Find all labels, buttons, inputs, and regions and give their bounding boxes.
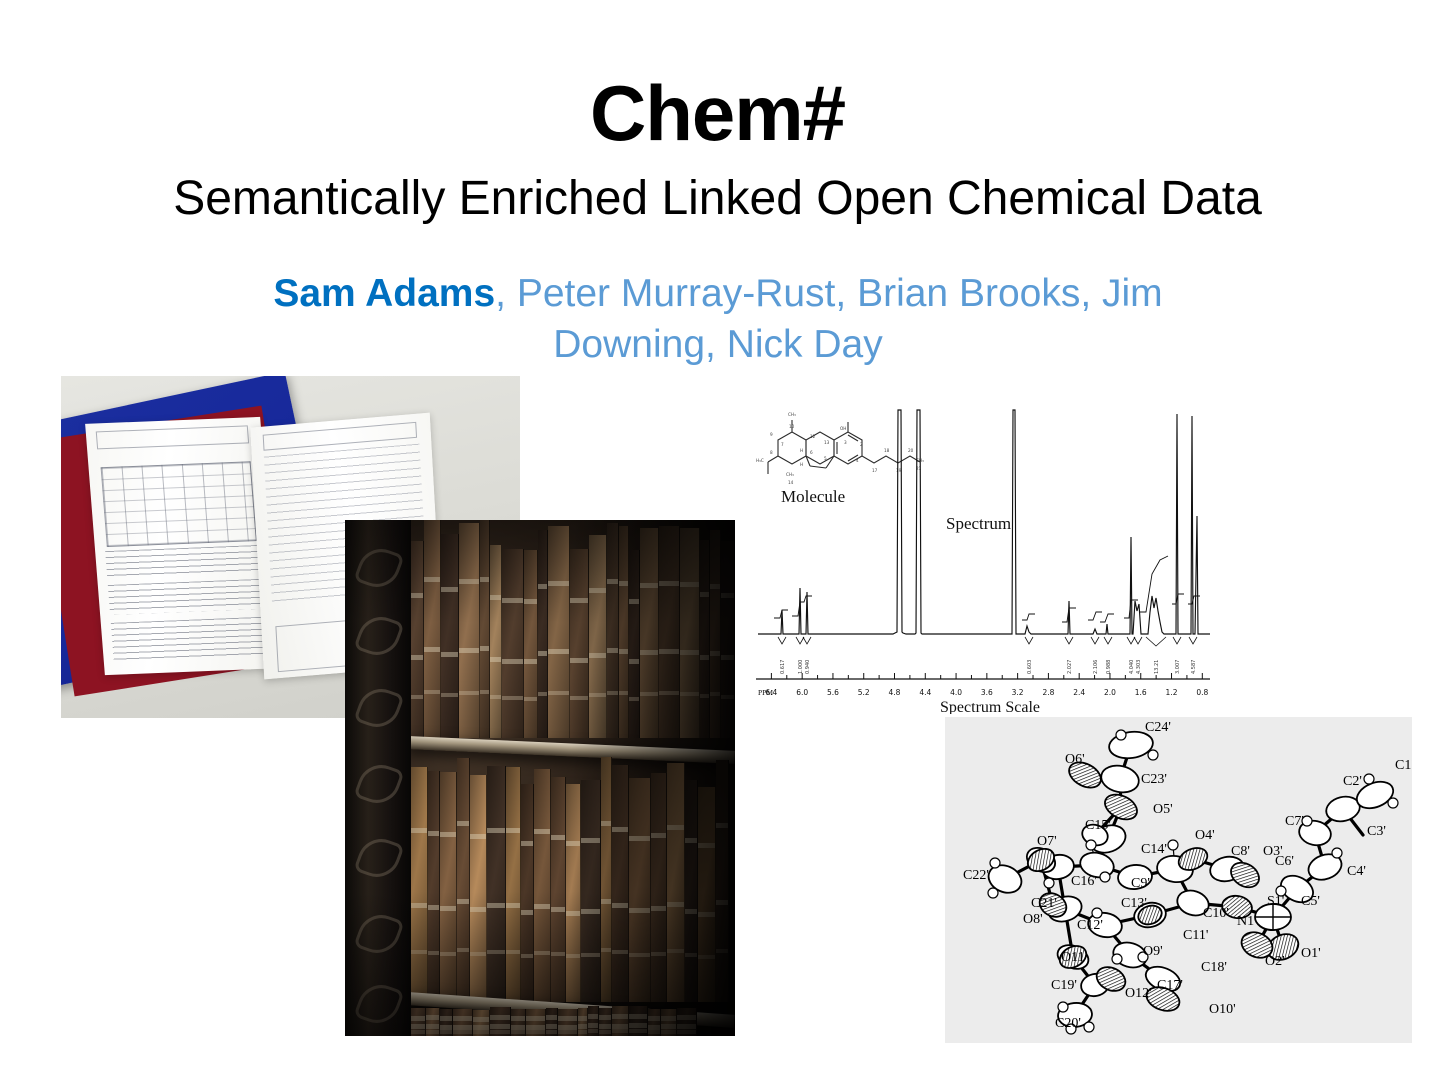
book-band [548, 691, 569, 695]
book-spine [619, 526, 629, 738]
svg-text:H₃C: H₃C [756, 458, 764, 463]
book-band [487, 950, 505, 954]
book-spine [511, 1009, 526, 1036]
atom-label-O8-prime: O8' [1023, 912, 1043, 927]
page-title: Chem# [0, 74, 1435, 152]
ppm-tick-0.8: 0.8 [1196, 688, 1208, 697]
svg-text:2: 2 [860, 442, 863, 447]
atom-label-C16-prime: C16' [1071, 874, 1097, 889]
svg-text:1.000: 1.000 [798, 660, 804, 674]
svg-text:0.603: 0.603 [1027, 660, 1033, 674]
book-spine [578, 1008, 588, 1036]
atom-label-O11-prime: O11' [1061, 950, 1087, 965]
svg-text:18: 18 [884, 448, 890, 453]
atom-label-C18-prime: C18' [1201, 960, 1227, 975]
author-list: Sam Adams, Peter Murray-Rust, Brian Broo… [218, 268, 1218, 371]
book-band [578, 1030, 587, 1034]
svg-text:0.988: 0.988 [1106, 660, 1112, 674]
book-spine [629, 1006, 648, 1036]
book-band [490, 1030, 510, 1034]
book-band [459, 691, 479, 695]
atom-label-C14-prime: C14' [1141, 842, 1167, 857]
book-spine [661, 1009, 677, 1036]
book-spine [651, 773, 667, 1002]
svg-text:4.587: 4.587 [1191, 660, 1197, 674]
form-text-lines-a [105, 545, 262, 577]
book-band [685, 953, 697, 957]
book-band [473, 1030, 489, 1034]
atom-label-C22-prime: C22' [963, 868, 989, 883]
book-spine [698, 787, 716, 1002]
book-band [589, 693, 606, 697]
carved-wooden-pillar [345, 520, 411, 1036]
ppm-tick-2.8: 2.8 [1042, 688, 1054, 697]
book-spine [558, 1009, 578, 1036]
svg-text:5: 5 [824, 456, 827, 461]
spectrum-scale-label: Spectrum Scale [940, 699, 1040, 714]
svg-text:17: 17 [872, 468, 878, 473]
book-band [453, 1030, 472, 1034]
atom-label-O7-prime: O7' [1037, 834, 1057, 849]
atom-label-C4-prime: C4' [1347, 864, 1366, 879]
ortep-svg: C24'O6'C23'O5'C15'O7'C14'O4'C8'O3'C1'C2'… [945, 717, 1412, 1043]
svg-text:0.617: 0.617 [780, 660, 786, 674]
book-spine [570, 549, 589, 738]
book-band [546, 1030, 557, 1034]
book-spine [581, 780, 601, 1002]
book-band [612, 950, 628, 954]
book-spine [680, 528, 700, 738]
svg-text:0.940: 0.940 [805, 660, 811, 674]
atom-label-C10-prime: C10' [1203, 906, 1229, 921]
book-band [721, 695, 734, 699]
book-band [700, 694, 709, 698]
book-spine [480, 520, 490, 738]
book-spine [700, 540, 710, 738]
molecule-inset-label: Molecule [781, 487, 845, 506]
book-band [601, 948, 611, 952]
book-spine [459, 523, 480, 738]
atom-label-S1-prime: S1' [1267, 894, 1284, 909]
book-spine [546, 1008, 558, 1036]
book-spine [524, 550, 538, 738]
book-band [457, 948, 469, 952]
spectrum-caption: Spectrum [946, 514, 1011, 533]
book-band [599, 1030, 611, 1034]
ppm-tick-1.2: 1.2 [1166, 688, 1178, 697]
book-spine [424, 520, 441, 738]
book-band [490, 695, 501, 699]
book-spine [440, 1009, 453, 1036]
atom-label-C20-prime: C20' [1055, 1016, 1081, 1031]
nmr-spectrum-svg: CH₃ 10 9 8 7 12 6 13 5 OH 3 2 4 H₃C CH₃ … [748, 396, 1232, 714]
svg-text:4.040: 4.040 [1129, 660, 1135, 674]
book-spine [601, 757, 612, 1002]
book-spine [721, 541, 735, 738]
ppm-tick-4.4: 4.4 [919, 688, 931, 697]
book-band [526, 1030, 545, 1034]
book-spine [716, 760, 729, 1002]
atom-label-N1-prime: N1' [1237, 914, 1257, 929]
atom-label-O2-prime: O2' [1265, 954, 1285, 969]
book-spine [521, 784, 534, 1002]
svg-text:13.21: 13.21 [1154, 660, 1160, 674]
book-band [470, 952, 486, 956]
book-spine [490, 545, 502, 738]
book-spine [470, 775, 487, 1002]
leaf-carving-3 [353, 682, 404, 733]
book-band [629, 1029, 647, 1033]
book-band [551, 952, 565, 956]
author-rest: , Peter Murray-Rust, Brian Brooks, Jim D… [495, 272, 1163, 366]
book-spine [607, 523, 619, 738]
book-spine [440, 772, 457, 1002]
svg-text:10: 10 [789, 424, 795, 429]
book-spine [490, 1007, 511, 1036]
book-spine [526, 1009, 546, 1036]
atom-label-O6-prime: O6' [1065, 752, 1085, 767]
book-spine [612, 765, 629, 1002]
svg-text:CH₃: CH₃ [786, 472, 794, 477]
atom-label-O9-prime: O9' [1143, 944, 1163, 959]
book-band [538, 692, 547, 696]
atom-label-C9-prime: C9' [1131, 876, 1150, 891]
book-spine [629, 550, 640, 738]
svg-text:6: 6 [810, 450, 813, 455]
book-band [667, 949, 684, 953]
svg-text:OH: OH [840, 426, 846, 431]
svg-text:3: 3 [844, 440, 847, 445]
svg-text:H: H [800, 462, 803, 467]
atom-label-C17-prime: C17' [1157, 978, 1183, 993]
book-band [511, 1030, 525, 1034]
book-spine [502, 549, 524, 738]
atom-label-C3-prime: C3' [1367, 824, 1386, 839]
atom-label-O10-prime: O10' [1209, 1002, 1236, 1017]
svg-text:4: 4 [856, 458, 859, 463]
book-band [441, 693, 458, 697]
svg-text:7: 7 [781, 442, 784, 447]
nmr-spectrum-figure: CH₃ 10 9 8 7 12 6 13 5 OH 3 2 4 H₃C CH₃ … [748, 396, 1232, 714]
atom-label-C12-prime: C12' [1077, 918, 1103, 933]
book-spine [566, 784, 581, 1002]
book-band [612, 1029, 628, 1033]
bookshelf-row-middle [407, 752, 735, 1002]
ppm-tick-5.2: 5.2 [858, 688, 870, 697]
leaf-carving-6 [353, 908, 404, 959]
svg-text:14: 14 [788, 480, 794, 485]
book-spine [487, 766, 506, 1002]
form-grid-table [101, 461, 257, 547]
svg-text:H: H [800, 448, 803, 453]
book-band [480, 690, 489, 694]
atom-label-C21-prime: C21' [1031, 896, 1057, 911]
book-spine [457, 758, 470, 1002]
atom-label-C11-prime: C11' [1183, 928, 1208, 943]
book-band [570, 696, 588, 700]
ppm-tick-6.4: 6.4 [765, 688, 777, 697]
ppm-tick-2.0: 2.0 [1104, 688, 1116, 697]
book-band [680, 692, 699, 696]
book-spine [453, 1009, 473, 1036]
book-band [428, 951, 439, 955]
book-band [566, 954, 580, 958]
book-band [710, 692, 720, 696]
book-spine [551, 777, 566, 1002]
atom-label-O12-prime: O12' [1125, 986, 1152, 1001]
book-band [629, 697, 639, 701]
crystal-structure-ortep-figure: C24'O6'C23'O5'C15'O7'C14'O4'C8'O3'C1'C2'… [945, 717, 1412, 1043]
svg-text:4.303: 4.303 [1136, 660, 1142, 674]
leaf-carving-2 [353, 610, 404, 661]
book-band [521, 954, 533, 958]
ppm-tick-4.8: 4.8 [889, 688, 901, 697]
book-band [588, 1029, 598, 1033]
atom-label-C13-prime: C13' [1121, 896, 1147, 911]
book-band [506, 950, 520, 954]
book-band [640, 692, 658, 696]
form-text-lines-c [111, 617, 269, 663]
leaf-carving-1 [353, 542, 404, 593]
atom-label-C24-prime: C24' [1145, 720, 1171, 735]
book-spine [428, 771, 440, 1002]
book-spine [506, 767, 521, 1002]
page-subtitle: Semantically Enriched Linked Open Chemic… [0, 174, 1435, 224]
book-spine [599, 1008, 612, 1036]
atom-label-C5-prime: C5' [1301, 894, 1320, 909]
ppm-tick-2.4: 2.4 [1073, 688, 1085, 697]
svg-text:12: 12 [810, 434, 816, 439]
notebook-page-left [85, 417, 280, 675]
ppm-tick-4.0: 4.0 [950, 688, 962, 697]
book-band [558, 1030, 577, 1034]
form-text-lines-b [108, 579, 265, 615]
svg-text:2.027: 2.027 [1067, 660, 1073, 674]
svg-text:8: 8 [770, 450, 773, 455]
svg-text:3.007: 3.007 [1175, 660, 1181, 674]
atom-label-C6-prime: C6' [1275, 854, 1294, 869]
book-band [607, 691, 618, 695]
bookshelf-row-lower [407, 1006, 735, 1036]
author-lead: Sam Adams [273, 272, 495, 315]
atom-label-C15-prime: C15' [1085, 818, 1111, 833]
book-band [424, 690, 440, 694]
ppm-tick-3.6: 3.6 [981, 688, 993, 697]
svg-text:9: 9 [770, 432, 773, 437]
leaf-carving-5 [353, 832, 404, 883]
svg-text:20: 20 [908, 448, 914, 453]
ppm-tick-3.2: 3.2 [1012, 688, 1024, 697]
book-spine [426, 1008, 440, 1036]
book-spine [534, 769, 551, 1002]
historic-library-bookshelf-photo [345, 520, 735, 1036]
book-spine [629, 778, 651, 1002]
book-spine [441, 534, 459, 738]
atom-label-C23-prime: C23' [1141, 772, 1167, 787]
book-spine [588, 1006, 599, 1036]
book-spine [538, 530, 548, 738]
book-spine [473, 1010, 490, 1036]
book-band [716, 949, 728, 953]
book-spine [548, 526, 570, 738]
book-spine [589, 535, 607, 738]
ppm-tick-1.6: 1.6 [1135, 688, 1147, 697]
atom-label-O1-prime: O1' [1301, 946, 1321, 961]
book-band [698, 955, 715, 959]
book-band [426, 1030, 439, 1034]
book-spine [685, 780, 698, 1002]
book-band [524, 697, 537, 701]
form-header-box [96, 425, 249, 449]
book-spine [640, 528, 659, 738]
book-band [629, 953, 650, 957]
book-band [534, 951, 550, 955]
book-band [619, 691, 628, 695]
book-band [440, 952, 456, 956]
book-spine [710, 530, 721, 738]
book-band [661, 1030, 676, 1034]
svg-text:13: 13 [824, 440, 830, 445]
book-spine [648, 1009, 661, 1036]
atom-label-C1-prime: C1' [1395, 758, 1412, 773]
atom-label-C8-prime: C8' [1231, 844, 1250, 859]
book-band [677, 1030, 696, 1034]
book-band [659, 691, 679, 695]
atom-label-C7-prime: C7' [1285, 814, 1304, 829]
book-spine [677, 1008, 697, 1036]
ppm-tick-6.0: 6.0 [796, 688, 808, 697]
bookshelf-row-upper [407, 520, 735, 738]
atom-label-C19-prime: C19' [1051, 978, 1077, 993]
atom-label-C2-prime: C2' [1343, 774, 1362, 789]
book-spine [659, 526, 680, 738]
svg-text:CH₃: CH₃ [788, 412, 796, 417]
book-spine [667, 763, 685, 1002]
book-spine [612, 1006, 629, 1036]
svg-text:2.106: 2.106 [1093, 660, 1099, 674]
book-band [651, 952, 666, 956]
book-band [648, 1030, 660, 1034]
book-band [581, 953, 600, 957]
book-band [502, 696, 523, 700]
atom-label-O4-prime: O4' [1195, 828, 1215, 843]
atom-label-O5-prime: O5' [1153, 802, 1173, 817]
ppm-tick-5.6: 5.6 [827, 688, 839, 697]
leaf-carving-7 [353, 978, 404, 1029]
ppm-tick-labels: 6.46.05.65.24.84.44.03.63.22.82.42.01.61… [765, 688, 1208, 697]
book-band [440, 1030, 452, 1034]
leaf-carving-4 [353, 758, 404, 809]
